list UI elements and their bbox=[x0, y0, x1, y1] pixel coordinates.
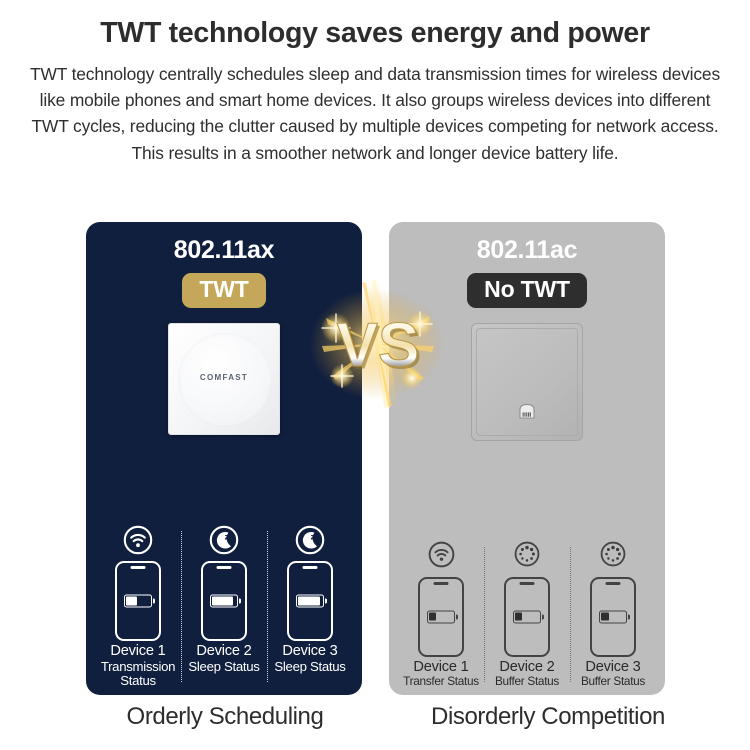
caption-orderly-scheduling: Orderly Scheduling bbox=[60, 703, 390, 731]
page-description: TWT technology centrally schedules sleep… bbox=[25, 61, 725, 167]
hardware-wrap-ac bbox=[389, 323, 665, 446]
battery-indicator bbox=[296, 594, 324, 607]
status-badge-no-twt: No TWT bbox=[467, 273, 587, 308]
wifi-icon bbox=[96, 525, 180, 559]
device-item: z Device 3 Sleep Status bbox=[267, 525, 353, 688]
device-item: Device 3 Buffer Status bbox=[570, 541, 656, 688]
phone-outline bbox=[287, 561, 333, 641]
panel-title-ac: 802.11ac bbox=[389, 236, 665, 265]
phone-notch bbox=[434, 582, 449, 585]
panel-802-11ax: 802.11ax TWT COMFAST bbox=[86, 222, 362, 695]
wifi-ap-panel-icon: COMFAST bbox=[168, 323, 280, 435]
comparison-section: 802.11ax TWT COMFAST bbox=[0, 222, 750, 750]
phone-outline bbox=[201, 561, 247, 641]
battery-indicator bbox=[124, 594, 152, 607]
device-status: Sleep Status bbox=[182, 660, 266, 674]
battery-fill bbox=[601, 612, 609, 621]
page-title: TWT technology saves energy and power bbox=[0, 0, 750, 48]
device-name: Device 1 bbox=[399, 660, 483, 676]
panel-802-11ac: 802.11ac No TWT bbox=[389, 222, 665, 695]
battery-fill bbox=[126, 596, 137, 605]
phone-notch bbox=[131, 566, 146, 569]
device-item: Device 2 Buffer Status bbox=[484, 541, 570, 688]
battery-indicator bbox=[599, 610, 627, 623]
device-name: Device 2 bbox=[182, 644, 266, 660]
device-item: Device 1 Transmission Status bbox=[95, 525, 181, 688]
badge-wrap-ac: No TWT bbox=[389, 273, 665, 308]
ethernet-jack-icon bbox=[517, 402, 537, 424]
badge-wrap-ax: TWT bbox=[86, 273, 362, 308]
device-name: Device 1 bbox=[96, 644, 180, 660]
battery-fill bbox=[298, 596, 320, 605]
wifi-icon bbox=[399, 541, 483, 575]
battery-indicator bbox=[427, 610, 455, 623]
status-badge-twt: TWT bbox=[182, 273, 265, 308]
panel-title-ax: 802.11ax bbox=[86, 236, 362, 265]
svg-text:z: z bbox=[224, 531, 228, 541]
ap-brand-label: COMFAST bbox=[169, 373, 279, 382]
phone-notch bbox=[606, 582, 621, 585]
header: TWT technology saves energy and power TW… bbox=[0, 0, 750, 166]
device-item: Device 1 Transfer Status bbox=[398, 541, 484, 688]
device-name: Device 3 bbox=[571, 660, 655, 676]
battery-fill bbox=[429, 612, 436, 621]
device-item: z Device 2 Sleep Status bbox=[181, 525, 267, 688]
device-status: Sleep Status bbox=[268, 660, 352, 674]
phone-outline bbox=[115, 561, 161, 641]
sleep-moon-icon: z bbox=[268, 525, 352, 559]
device-status: Buffer Status bbox=[485, 675, 569, 688]
loading-spinner-icon bbox=[571, 541, 655, 575]
device-name: Device 3 bbox=[268, 644, 352, 660]
svg-text:z: z bbox=[310, 531, 314, 541]
battery-fill bbox=[515, 612, 522, 621]
device-strip-ax: Device 1 Transmission Status z bbox=[95, 525, 353, 688]
device-status: Buffer Status bbox=[571, 675, 655, 688]
phone-notch bbox=[217, 566, 232, 569]
device-strip-ac: Device 1 Transfer Status bbox=[398, 541, 656, 688]
device-status: Transfer Status bbox=[399, 675, 483, 688]
device-status: Transmission Status bbox=[96, 660, 180, 689]
battery-fill bbox=[212, 596, 233, 605]
phone-notch bbox=[303, 566, 318, 569]
battery-indicator bbox=[210, 594, 238, 607]
phone-outline bbox=[418, 577, 464, 657]
legacy-wall-plate bbox=[471, 323, 583, 441]
phone-outline bbox=[590, 577, 636, 657]
infographic-page: TWT technology saves energy and power TW… bbox=[0, 0, 750, 750]
caption-disorderly-competition: Disorderly Competition bbox=[378, 703, 718, 731]
loading-spinner-icon bbox=[485, 541, 569, 575]
sleep-moon-icon: z bbox=[182, 525, 266, 559]
phone-notch bbox=[520, 582, 535, 585]
hardware-wrap-ax: COMFAST bbox=[86, 323, 362, 440]
device-name: Device 2 bbox=[485, 660, 569, 676]
phone-outline bbox=[504, 577, 550, 657]
battery-indicator bbox=[513, 610, 541, 623]
